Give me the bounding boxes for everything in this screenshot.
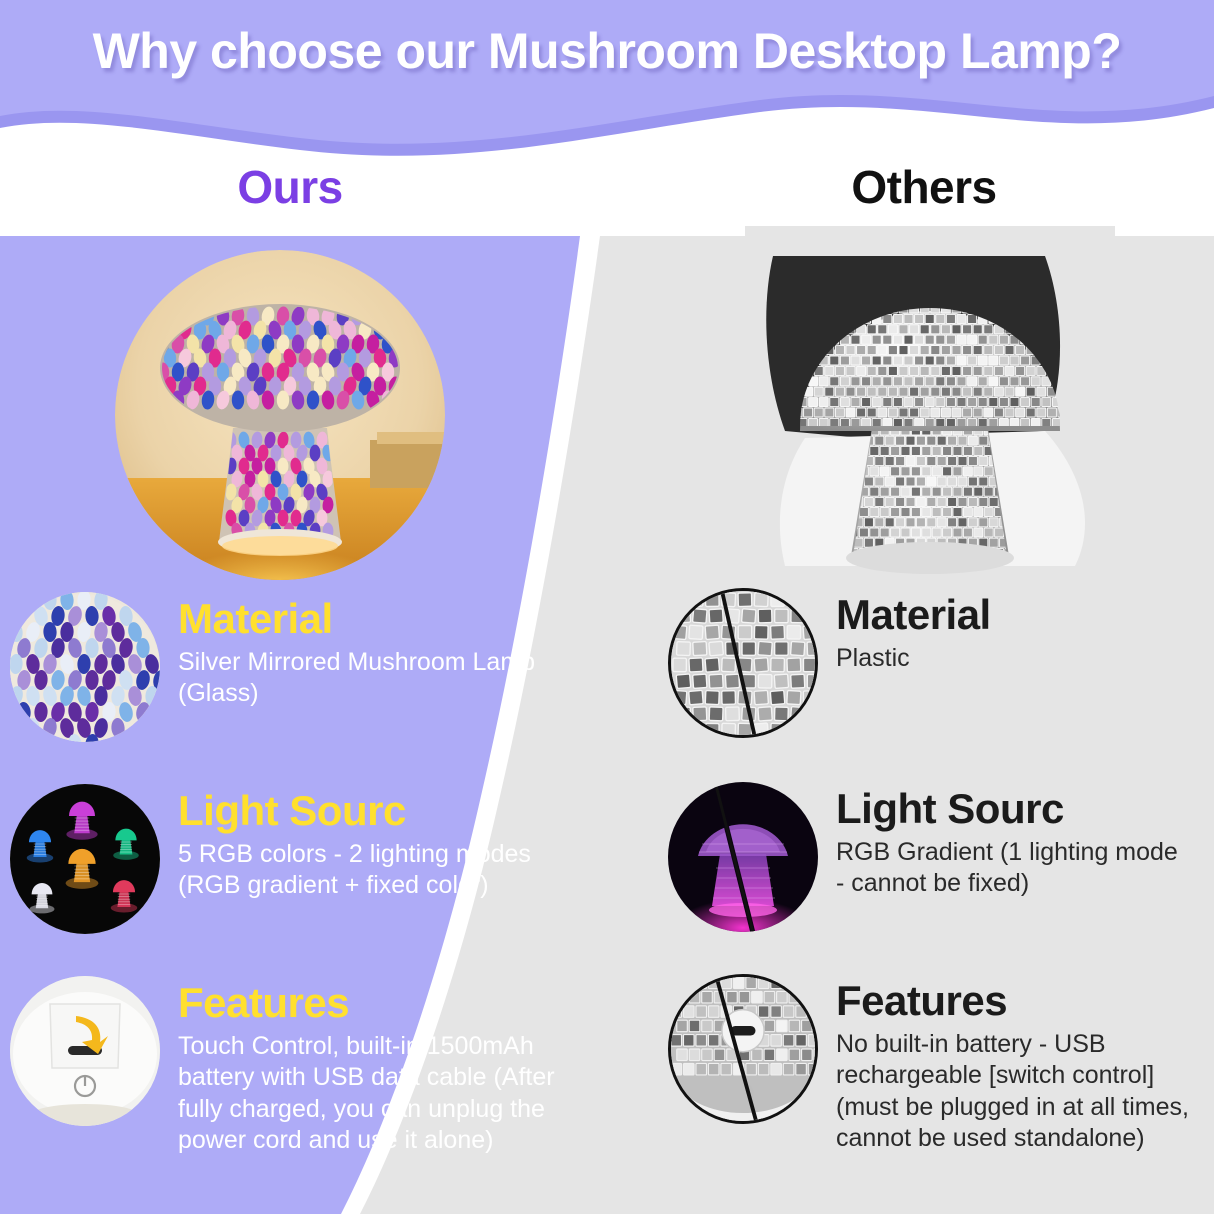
rgb-mushroom-lamps-graphic <box>10 784 160 934</box>
others-light-source-body: RGB Gradient (1 lighting mode - cannot b… <box>836 837 1181 900</box>
column-heading-others: Others <box>634 160 1214 214</box>
others-material-body: Plastic <box>836 643 1214 675</box>
others-row-material: Material Plastic <box>668 588 1214 738</box>
usb-port-discoball-base-graphic <box>671 977 815 1121</box>
others-light-source-heading: Light Sourc <box>836 788 1181 831</box>
ours-material-body: Silver Mirrored Mushroom Lamp (Glass) <box>178 647 578 710</box>
comparison-panels: Material Silver Mirrored Mushroom Lamp (… <box>0 236 1214 1214</box>
ours-features-body: Touch Control, built-in 1500mAh battery … <box>178 1031 578 1157</box>
page-title: Why choose our Mushroom Desktop Lamp? <box>0 22 1214 80</box>
others-material-text: Material Plastic <box>836 588 1214 674</box>
ours-light-source-heading: Light Sourc <box>178 790 578 833</box>
usb-port-touch-base-icon <box>10 976 160 1126</box>
panel-others: Material Plastic <box>640 236 1214 1214</box>
purple-glow-mushroom-graphic <box>668 782 818 932</box>
usb-port-discoball-base-icon <box>668 974 818 1124</box>
header-banner: Why choose our Mushroom Desktop Lamp? <box>0 0 1214 160</box>
panel-ours: Material Silver Mirrored Mushroom Lamp (… <box>0 236 600 1214</box>
others-features-text: Features No built-in battery - USB recha… <box>836 974 1196 1155</box>
ours-light-source-text: Light Sourc 5 RGB colors - 2 lighting mo… <box>178 784 578 902</box>
column-headings: Ours Others <box>0 160 1214 236</box>
ours-hero-image <box>115 250 445 580</box>
mosaic-glass-closeup-icon <box>10 592 160 742</box>
ours-row-light-source: Light Sourc 5 RGB colors - 2 lighting mo… <box>10 784 578 934</box>
ours-features-heading: Features <box>178 982 578 1025</box>
others-material-heading: Material <box>836 594 1214 637</box>
purple-glow-mushroom-icon <box>668 782 818 932</box>
others-features-body: No built-in battery - USB rechargeable [… <box>836 1029 1196 1155</box>
ours-row-features: Features Touch Control, built-in 1500mAh… <box>10 976 578 1157</box>
others-row-features: Features No built-in battery - USB recha… <box>668 974 1196 1155</box>
others-light-source-text: Light Sourc RGB Gradient (1 lighting mod… <box>836 782 1181 900</box>
mosaic-mushroom-lamp-illustration <box>115 250 445 580</box>
discoball-mushroom-lamp-illustration <box>745 226 1115 596</box>
column-heading-ours: Ours <box>0 160 580 214</box>
usb-port-touch-base-graphic <box>10 976 160 1126</box>
infographic-root: Why choose our Mushroom Desktop Lamp? Ou… <box>0 0 1214 1214</box>
others-features-heading: Features <box>836 980 1196 1023</box>
ours-row-material: Material Silver Mirrored Mushroom Lamp (… <box>10 592 578 742</box>
mirror-tile-closeup-icon <box>668 588 818 738</box>
ours-light-source-body: 5 RGB colors - 2 lighting modes (RGB gra… <box>178 839 578 902</box>
rgb-mushroom-lamps-icon <box>10 784 160 934</box>
others-row-light-source: Light Sourc RGB Gradient (1 lighting mod… <box>668 782 1181 932</box>
ours-material-heading: Material <box>178 598 578 641</box>
ours-material-text: Material Silver Mirrored Mushroom Lamp (… <box>178 592 578 710</box>
others-hero-image <box>745 226 1115 596</box>
mirror-tile-closeup-graphic <box>671 591 815 735</box>
ours-features-text: Features Touch Control, built-in 1500mAh… <box>178 976 578 1157</box>
mosaic-glass-closeup-graphic <box>10 592 160 742</box>
